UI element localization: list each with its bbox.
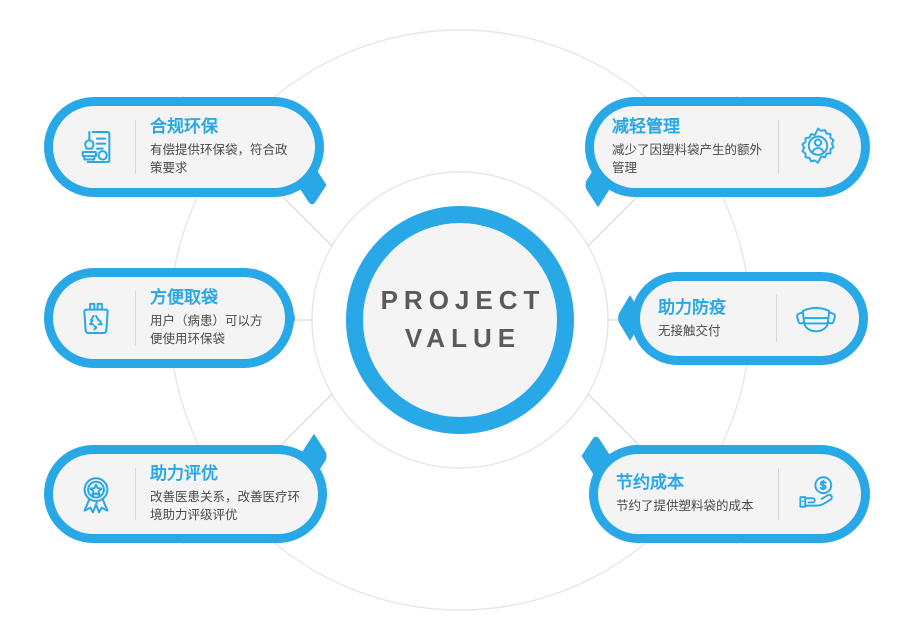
node-desc: 无接触交付 <box>658 322 762 341</box>
node-card-convenience[interactable]: 方便取袋 用户（病患）可以方便使用环保袋 <box>44 268 294 368</box>
document-stamp-icon <box>67 127 125 167</box>
recycle-bag-icon <box>67 298 125 338</box>
node-title: 方便取袋 <box>150 287 267 310</box>
node-title: 助力防疫 <box>658 297 762 320</box>
project-value-diagram: 合规环保 有偿提供环保袋，符合政策要求 减轻管理 减少了因塑料袋产生的额外管理 <box>0 0 913 634</box>
node-title: 助力评优 <box>150 463 300 486</box>
node-desc: 减少了因塑料袋产生的额外管理 <box>612 141 764 179</box>
pill-divider <box>778 468 779 520</box>
center-title-line1: PROJECT <box>375 282 546 320</box>
node-title: 减轻管理 <box>612 116 764 139</box>
node-title: 节约成本 <box>616 472 764 495</box>
award-ribbon-icon <box>67 473 125 515</box>
pill-divider <box>135 120 136 174</box>
node-card-epidemic[interactable]: 助力防疫 无接触交付 <box>631 272 868 365</box>
center-hub: PROJECT VALUE <box>346 206 574 434</box>
center-title-line2: VALUE <box>399 320 521 358</box>
node-title: 合规环保 <box>150 116 297 139</box>
hand-money-icon <box>789 474 847 514</box>
node-desc: 节约了提供塑料袋的成本 <box>616 497 764 516</box>
pill-divider <box>135 468 136 520</box>
node-card-rating[interactable]: 助力评优 改善医患关系，改善医疗环境助力评级评优 <box>44 445 327 543</box>
node-desc: 有偿提供环保袋，符合政策要求 <box>150 141 297 179</box>
pill-divider <box>778 120 779 174</box>
node-card-cost[interactable]: 节约成本 节约了提供塑料袋的成本 <box>589 445 870 543</box>
gear-user-icon <box>789 126 847 168</box>
node-desc: 改善医患关系，改善医疗环境助力评级评优 <box>150 488 300 526</box>
node-card-compliance[interactable]: 合规环保 有偿提供环保袋，符合政策要求 <box>44 97 324 197</box>
pill-divider <box>776 295 777 342</box>
node-card-management[interactable]: 减轻管理 减少了因塑料袋产生的额外管理 <box>585 97 870 197</box>
pill-divider <box>135 291 136 345</box>
node-desc: 用户（病患）可以方便使用环保袋 <box>150 312 267 350</box>
face-mask-icon <box>787 299 845 339</box>
